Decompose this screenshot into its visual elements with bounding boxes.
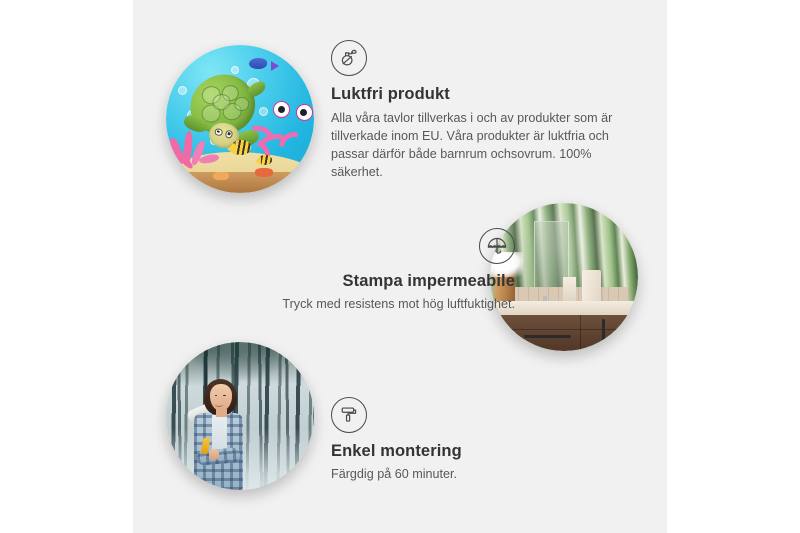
feature-image-underwater [166, 45, 314, 193]
product-feature-banner: Luktfri produkt Alla våra tavlor tillver… [0, 0, 800, 533]
feature-title: Stampa impermeabile [215, 272, 515, 291]
feature-title: Luktfri produkt [331, 85, 631, 104]
feature-text: Alla våra tavlor tillverkas i och av pro… [331, 110, 631, 182]
no-odor-spray-bottle-icon [331, 40, 367, 76]
feature-text: Tryck med resistens mot hög luftfuktighe… [215, 296, 515, 314]
feature-block-2: Stampa impermeabile Tryck med resistens … [215, 228, 515, 314]
feature-image-installer [166, 342, 314, 490]
feature-title: Enkel montering [331, 442, 631, 461]
paint-roller-icon [331, 397, 367, 433]
feature-canvas: Luktfri produkt Alla våra tavlor tillver… [133, 0, 667, 533]
umbrella-icon [479, 228, 515, 264]
feature-block-1: Luktfri produkt Alla våra tavlor tillver… [331, 40, 631, 182]
feature-block-3: Enkel montering Färgdig på 60 minuter. [331, 397, 631, 484]
feature-text: Färgdig på 60 minuter. [331, 466, 631, 484]
